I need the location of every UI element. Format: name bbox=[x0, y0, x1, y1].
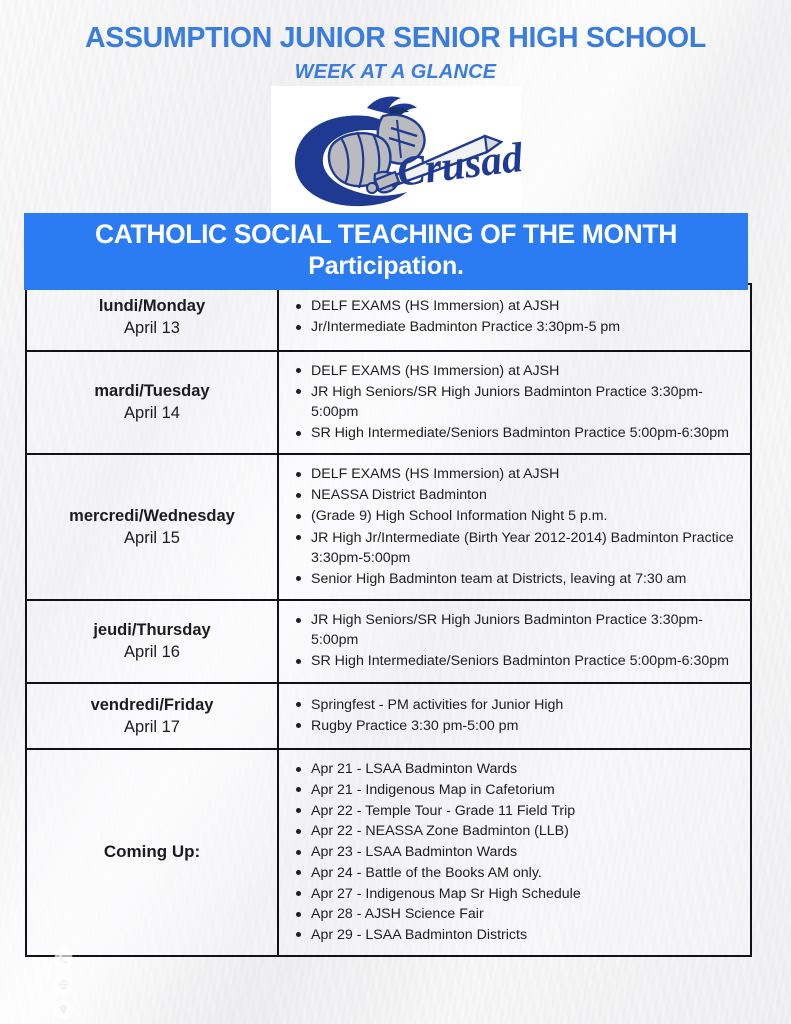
day-date: April 15 bbox=[33, 527, 271, 549]
events-cell: JR High Seniors/SR High Juniors Badminto… bbox=[278, 600, 751, 682]
day-cell: lundi/MondayApril 13 bbox=[26, 284, 278, 351]
day-cell: vendredi/FridayApril 17 bbox=[26, 683, 278, 750]
week-at-a-glance-table: lundi/MondayApril 13DELF EXAMS (HS Immer… bbox=[25, 283, 752, 957]
list-item: Jr/Intermediate Badminton Practice 3:30p… bbox=[289, 317, 736, 337]
list-item: Apr 29 - LSAA Badminton Districts bbox=[289, 925, 736, 946]
globe-icon bbox=[54, 975, 73, 994]
schedule-body: lundi/MondayApril 13DELF EXAMS (HS Immer… bbox=[26, 284, 751, 956]
day-date: April 16 bbox=[33, 641, 271, 663]
day-date: April 17 bbox=[33, 716, 271, 738]
day-name: vendredi/Friday bbox=[33, 694, 271, 716]
events-cell: Springfest - PM activities for Junior Hi… bbox=[278, 683, 751, 750]
table-row: mardi/TuesdayApril 14DELF EXAMS (HS Imme… bbox=[26, 351, 751, 455]
list-item: JR High Seniors/SR High Juniors Badminto… bbox=[289, 382, 736, 422]
events-cell: DELF EXAMS (HS Immersion) at AJSHJR High… bbox=[278, 351, 751, 455]
day-date: April 14 bbox=[33, 402, 271, 424]
location-pin-icon bbox=[54, 1000, 73, 1019]
crusaders-knight-logo: Crusaders bbox=[271, 86, 521, 214]
event-list: JR High Seniors/SR High Juniors Badminto… bbox=[289, 610, 736, 671]
list-item: Apr 22 - NEASSA Zone Badminton (LLB) bbox=[289, 821, 736, 842]
day-name: jeudi/Thursday bbox=[33, 619, 271, 641]
list-item: JR High Jr/Intermediate (Birth Year 2012… bbox=[289, 528, 736, 568]
coming-up-list: Apr 21 - LSAA Badminton WardsApr 21 - In… bbox=[289, 759, 736, 946]
event-list: DELF EXAMS (HS Immersion) at AJSHJr/Inte… bbox=[289, 296, 736, 337]
list-item: Apr 28 - AJSH Science Fair bbox=[289, 904, 736, 925]
list-item: Rugby Practice 3:30 pm-5:00 pm bbox=[289, 716, 736, 736]
list-item: Apr 23 - LSAA Badminton Wards bbox=[289, 842, 736, 863]
list-item: DELF EXAMS (HS Immersion) at AJSH bbox=[289, 464, 736, 484]
list-item: Springfest - PM activities for Junior Hi… bbox=[289, 695, 736, 715]
table-row: lundi/MondayApril 13DELF EXAMS (HS Immer… bbox=[26, 284, 751, 351]
coming-up-row: Coming Up:Apr 21 - LSAA Badminton WardsA… bbox=[26, 749, 751, 956]
day-date: April 13 bbox=[33, 317, 271, 339]
list-item: Apr 22 - Temple Tour - Grade 11 Field Tr… bbox=[289, 801, 736, 822]
events-cell: DELF EXAMS (HS Immersion) at AJSHJr/Inte… bbox=[278, 284, 751, 351]
list-item: Apr 21 - Indigenous Map in Cafetorium bbox=[289, 780, 736, 801]
table-row: jeudi/ThursdayApril 16JR High Seniors/SR… bbox=[26, 600, 751, 682]
newsletter-page: ASSUMPTION JUNIOR SENIOR HIGH SCHOOL WEE… bbox=[0, 0, 791, 214]
day-cell: mardi/TuesdayApril 14 bbox=[26, 351, 278, 455]
day-cell: jeudi/ThursdayApril 16 bbox=[26, 600, 278, 682]
list-item: JR High Seniors/SR High Juniors Badminto… bbox=[289, 610, 736, 650]
page-title: ASSUMPTION JUNIOR SENIOR HIGH SCHOOL bbox=[0, 24, 791, 54]
events-cell: DELF EXAMS (HS Immersion) at AJSHNEASSA … bbox=[278, 454, 751, 600]
coming-up-label: Coming Up: bbox=[33, 842, 271, 862]
list-item: (Grade 9) High School Information Night … bbox=[289, 506, 736, 526]
list-item: Apr 27 - Indigenous Map Sr High Schedule bbox=[289, 884, 736, 905]
list-item: DELF EXAMS (HS Immersion) at AJSH bbox=[289, 361, 736, 381]
day-name: lundi/Monday bbox=[33, 295, 271, 317]
day-name: mardi/Tuesday bbox=[33, 380, 271, 402]
list-item: SR High Intermediate/Seniors Badminton P… bbox=[289, 651, 736, 671]
table-row: vendredi/FridayApril 17Springfest - PM a… bbox=[26, 683, 751, 750]
page-subtitle: WEEK AT A GLANCE bbox=[0, 61, 791, 84]
list-item: DELF EXAMS (HS Immersion) at AJSH bbox=[289, 296, 736, 316]
day-cell: mercredi/WednesdayApril 15 bbox=[26, 454, 278, 600]
list-item: Senior High Badminton team at Districts,… bbox=[289, 569, 736, 589]
list-item: Apr 24 - Battle of the Books AM only. bbox=[289, 863, 736, 884]
event-list: DELF EXAMS (HS Immersion) at AJSHNEASSA … bbox=[289, 464, 736, 589]
coming-up-events-cell: Apr 21 - LSAA Badminton WardsApr 21 - In… bbox=[278, 749, 751, 956]
contact-watermark-icons bbox=[54, 950, 73, 1019]
phone-icon bbox=[54, 950, 73, 969]
day-name: mercredi/Wednesday bbox=[33, 505, 271, 527]
list-item: SR High Intermediate/Seniors Badminton P… bbox=[289, 423, 736, 443]
table-row: mercredi/WednesdayApril 15DELF EXAMS (HS… bbox=[26, 454, 751, 600]
list-item: Apr 21 - LSAA Badminton Wards bbox=[289, 759, 736, 780]
event-list: Springfest - PM activities for Junior Hi… bbox=[289, 695, 736, 736]
list-item: NEASSA District Badminton bbox=[289, 485, 736, 505]
coming-up-cell: Coming Up: bbox=[26, 749, 278, 956]
page-header: ASSUMPTION JUNIOR SENIOR HIGH SCHOOL WEE… bbox=[0, 0, 791, 214]
event-list: DELF EXAMS (HS Immersion) at AJSHJR High… bbox=[289, 361, 736, 444]
